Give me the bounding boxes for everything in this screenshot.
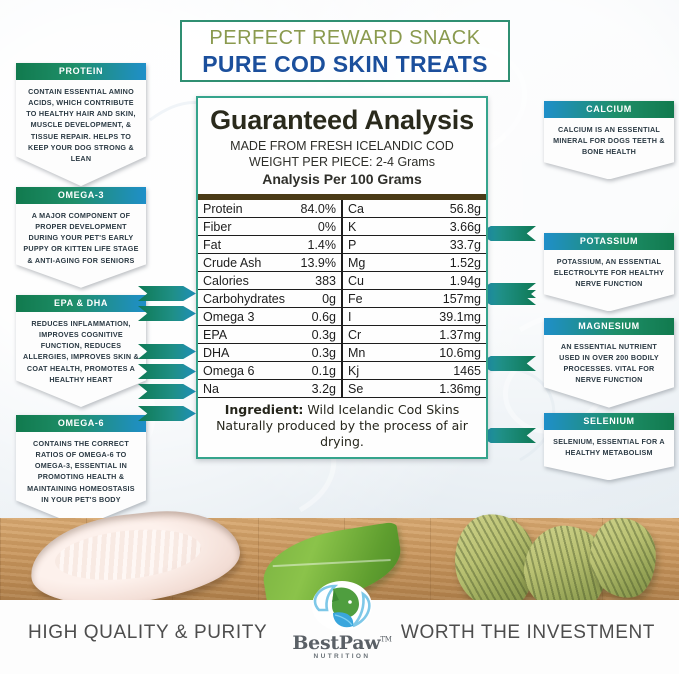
nutrient-value-left: 383 (270, 272, 342, 290)
header-main-title: PURE COD SKIN TREATS (182, 51, 508, 78)
connector-arrow-left-4 (138, 364, 196, 379)
header-subtitle: PERFECT REWARD SNACK (182, 27, 508, 50)
callout-selenium: SELENIUM SELENIUM, ESSENTIAL FOR A HEALT… (544, 413, 674, 480)
table-row: DHA0.3gMn10.6mg (198, 344, 486, 362)
nutrient-name-right: K (342, 218, 414, 236)
table-row: Protein84.0%Ca56.8g (198, 200, 486, 218)
nutrient-name-left: Protein (198, 200, 270, 218)
nutrient-name-left: Na (198, 380, 270, 398)
nutrient-value-left: 0.6g (270, 308, 342, 326)
nutrient-value-right: 3.66g (414, 218, 486, 236)
callout-body-wrap-calcium: CALCIUM IS AN ESSENTIAL MINERAL FOR DOGS… (544, 118, 674, 179)
nutrient-name-right: Cr (342, 326, 414, 344)
dog-head-leaf-icon (303, 580, 381, 636)
callout-body-wrap-protein: CONTAIN ESSENTIAL AMINO ACIDS, WHICH CON… (16, 80, 146, 186)
analysis-subtitle-weight: WEIGHT PER PIECE: 2-4 Grams (198, 154, 486, 170)
analysis-title: Guaranteed Analysis (198, 105, 486, 136)
nutrient-name-right: P (342, 236, 414, 254)
table-row: Omega 30.6gI39.1mg (198, 308, 486, 326)
logo-mark (303, 580, 381, 636)
nutrient-name-right: Se (342, 380, 414, 398)
nutrient-value-left: 0% (270, 218, 342, 236)
table-row: Omega 60.1gKj1465 (198, 362, 486, 380)
callout-body-wrap-selenium: SELENIUM, ESSENTIAL FOR A HEALTHY METABO… (544, 430, 674, 480)
nutrient-name-right: Mg (342, 254, 414, 272)
nutrient-name-right: Ca (342, 200, 414, 218)
callout-text-calcium: CALCIUM IS AN ESSENTIAL MINERAL FOR DOGS… (551, 124, 667, 157)
callout-magnesium: MAGNESIUM AN ESSENTIAL NUTRIENT USED IN … (544, 318, 674, 408)
nutrient-value-left: 0.1g (270, 362, 342, 380)
nutrient-value-left: 0.3g (270, 344, 342, 362)
callout-title-protein: PROTEIN (16, 63, 146, 80)
callout-title-selenium: SELENIUM (544, 413, 674, 430)
table-row: Fiber0%K3.66g (198, 218, 486, 236)
brand-subtitle: NUTRITION (292, 653, 392, 660)
nutrient-value-left: 1.4% (270, 236, 342, 254)
nutrient-name-right: Kj (342, 362, 414, 380)
connector-arrow-left-6 (138, 406, 196, 421)
nutrient-name-left: Omega 3 (198, 308, 270, 326)
nutrient-value-right: 1.52g (414, 254, 486, 272)
table-row: Fat1.4%P33.7g (198, 236, 486, 254)
nutrient-name-left: Carbohydrates (198, 290, 270, 308)
callout-epa-dha: EPA & DHA REDUCES INFLAMMATION, IMPROVES… (16, 295, 146, 407)
nutrient-name-right: Fe (342, 290, 414, 308)
analysis-subtitle-basis: Analysis Per 100 Grams (198, 171, 486, 189)
callout-body-wrap-omega-3: A MAJOR COMPONENT OF PROPER DEVELOPMENT … (16, 204, 146, 288)
page-title: PERFECT REWARD SNACK PURE COD SKIN TREAT… (180, 20, 510, 82)
footer-bar: HIGH QUALITY & PURITY WORTH THE INVESTME… (0, 600, 679, 674)
nutrient-value-right: 33.7g (414, 236, 486, 254)
table-row: Na3.2gSe1.36mg (198, 380, 486, 398)
connector-arrow-left-5 (138, 384, 196, 399)
nutrient-name-left: Calories (198, 272, 270, 290)
nutrient-name-right: Cu (342, 272, 414, 290)
nutrient-name-left: Fiber (198, 218, 270, 236)
nutrient-name-right: Mn (342, 344, 414, 362)
table-row: EPA0.3gCr1.37mg (198, 326, 486, 344)
analysis-subtitle-origin: MADE FROM FRESH ICELANDIC COD (198, 138, 486, 154)
connector-arrow-left-3 (138, 344, 196, 359)
guaranteed-analysis-panel: Guaranteed Analysis MADE FROM FRESH ICEL… (196, 96, 488, 459)
callout-title-omega-3: OMEGA-3 (16, 187, 146, 204)
nutrient-value-left: 3.2g (270, 380, 342, 398)
callout-text-protein: CONTAIN ESSENTIAL AMINO ACIDS, WHICH CON… (23, 86, 139, 164)
callout-text-omega-3: A MAJOR COMPONENT OF PROPER DEVELOPMENT … (23, 210, 139, 266)
callout-body-wrap-epa-dha: REDUCES INFLAMMATION, IMPROVES COGNITIVE… (16, 312, 146, 407)
table-row: Crude Ash13.9%Mg1.52g (198, 254, 486, 272)
nutrient-value-right: 157mg (414, 290, 486, 308)
nutrient-value-right: 1.94g (414, 272, 486, 290)
nutrient-value-right: 10.6mg (414, 344, 486, 362)
callout-body-wrap-magnesium: AN ESSENTIAL NUTRIENT USED IN OVER 200 B… (544, 335, 674, 408)
callout-text-epa-dha: REDUCES INFLAMMATION, IMPROVES COGNITIVE… (23, 318, 139, 385)
nutrient-value-right: 39.1mg (414, 308, 486, 326)
callout-title-omega-6: OMEGA-6 (16, 415, 146, 432)
nutrition-table: Protein84.0%Ca56.8gFiber0%K3.66gFat1.4%P… (198, 200, 486, 399)
tagline-left: HIGH QUALITY & PURITY (28, 622, 267, 644)
ingredient-statement: Ingredient: Wild Icelandic Cod Skins Nat… (198, 398, 486, 456)
callout-title-magnesium: MAGNESIUM (544, 318, 674, 335)
ingredient-label: Ingredient: (225, 402, 304, 417)
table-row: Carbohydrates0gFe157mg (198, 290, 486, 308)
nutrient-value-right: 1.36mg (414, 380, 486, 398)
nutrient-value-right: 1465 (414, 362, 486, 380)
nutrient-value-left: 13.9% (270, 254, 342, 272)
nutrient-value-left: 0.3g (270, 326, 342, 344)
nutrient-name-left: Omega 6 (198, 362, 270, 380)
callout-text-potassium: POTASSIUM, AN ESSENTIAL ELECTROLYTE FOR … (551, 256, 667, 289)
nutrient-name-left: EPA (198, 326, 270, 344)
brand-logo: BestPawTM NUTRITION (292, 580, 392, 660)
connector-arrow-left-1 (138, 286, 196, 301)
callout-body-wrap-potassium: POTASSIUM, AN ESSENTIAL ELECTROLYTE FOR … (544, 250, 674, 311)
callout-text-magnesium: AN ESSENTIAL NUTRIENT USED IN OVER 200 B… (551, 341, 667, 386)
nutrient-name-left: DHA (198, 344, 270, 362)
tagline-right: WORTH THE INVESTMENT (401, 622, 655, 644)
nutrient-value-left: 84.0% (270, 200, 342, 218)
connector-arrow-left-2 (138, 306, 196, 321)
infographic-page: PERFECT REWARD SNACK PURE COD SKIN TREAT… (0, 0, 679, 674)
callout-title-epa-dha: EPA & DHA (16, 295, 146, 312)
callout-title-calcium: CALCIUM (544, 101, 674, 118)
callout-potassium: POTASSIUM POTASSIUM, AN ESSENTIAL ELECTR… (544, 233, 674, 311)
table-row: Calories383Cu1.94g (198, 272, 486, 290)
callout-omega-3: OMEGA-3 A MAJOR COMPONENT OF PROPER DEVE… (16, 187, 146, 288)
trademark-symbol: TM (380, 636, 391, 644)
nutrient-value-right: 56.8g (414, 200, 486, 218)
nutrient-name-left: Crude Ash (198, 254, 270, 272)
callout-title-potassium: POTASSIUM (544, 233, 674, 250)
nutrient-name-left: Fat (198, 236, 270, 254)
nutrient-value-right: 1.37mg (414, 326, 486, 344)
nutrient-name-right: I (342, 308, 414, 326)
callout-text-selenium: SELENIUM, ESSENTIAL FOR A HEALTHY METABO… (551, 436, 667, 458)
callout-calcium: CALCIUM CALCIUM IS AN ESSENTIAL MINERAL … (544, 101, 674, 179)
callout-protein: PROTEIN CONTAIN ESSENTIAL AMINO ACIDS, W… (16, 63, 146, 186)
